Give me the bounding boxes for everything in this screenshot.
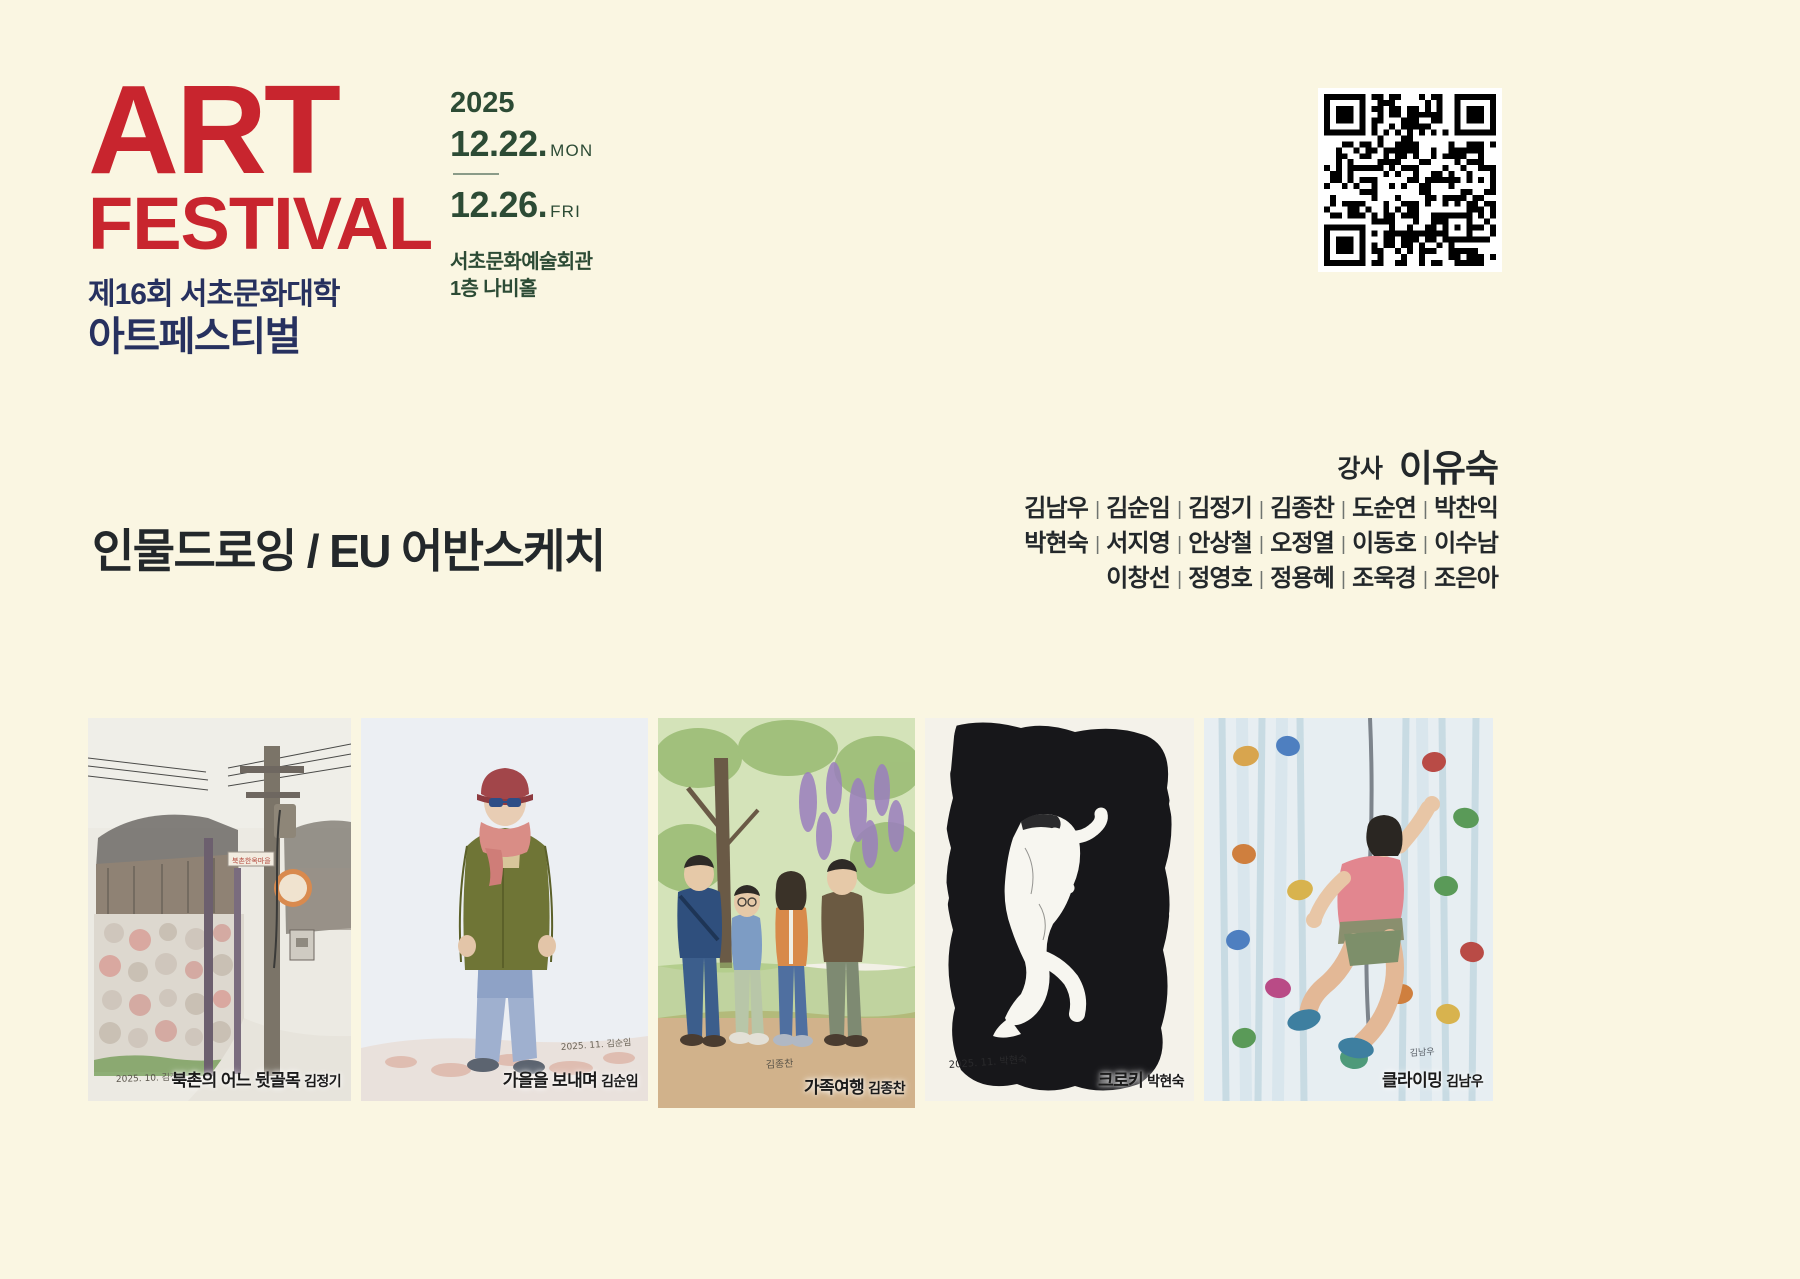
participant-name: 김정기 bbox=[1188, 495, 1252, 522]
artwork-image-figure-standing: 2025. 11. 김순임 bbox=[361, 718, 648, 1101]
participant-name: 이창선 bbox=[1106, 565, 1170, 592]
title-art: ART bbox=[88, 76, 508, 184]
participant-name: 김종찬 bbox=[1270, 495, 1334, 522]
participant-name: 정용혜 bbox=[1270, 565, 1334, 592]
venue-line-2: 1층 나비홀 bbox=[450, 276, 593, 303]
artwork-strip: 북촌한옥마을 2025. 10. 김정기 북촌의 어느 뒷골목김정기 bbox=[88, 718, 1493, 1108]
name-separator: | bbox=[1259, 534, 1263, 555]
name-separator: | bbox=[1177, 499, 1181, 520]
artwork-card[interactable]: 북촌한옥마을 2025. 10. 김정기 북촌의 어느 뒷골목김정기 bbox=[88, 718, 351, 1101]
artwork-title: 가족여행 bbox=[804, 1078, 864, 1097]
participant-name-row: 이창선|정영호|정용혜|조욱경|조은아 bbox=[838, 562, 1498, 597]
date-venue-block: 2025 12.22.MON 12.26.FRI 서초문화예술회관 1층 나비홀 bbox=[450, 86, 593, 303]
name-separator: | bbox=[1423, 569, 1427, 590]
name-separator: | bbox=[1259, 569, 1263, 590]
artwork-artist: 김순임 bbox=[601, 1073, 638, 1089]
venue-line-1: 서초문화예술회관 bbox=[450, 249, 593, 276]
participant-name: 김남우 bbox=[1024, 495, 1088, 522]
artwork-card[interactable]: 2025. 11. 박현숙 크로키박현숙 bbox=[925, 718, 1194, 1101]
artwork-artist: 김남우 bbox=[1446, 1073, 1483, 1089]
korean-subtitle-line2: 아트페스티벌 bbox=[88, 315, 508, 359]
poster-canvas: ART FESTIVAL 제16회 서초문화대학 아트페스티벌 2025 12.… bbox=[0, 0, 1800, 1279]
participant-name: 도순연 bbox=[1352, 495, 1416, 522]
korean-subtitle-line1: 제16회 서초문화대학 bbox=[88, 278, 508, 313]
participant-name: 조은아 bbox=[1434, 565, 1498, 592]
artwork-artist: 김정기 bbox=[304, 1073, 341, 1089]
artwork-caption: 북촌의 어느 뒷골목김정기 bbox=[172, 1066, 341, 1091]
name-separator: | bbox=[1259, 499, 1263, 520]
participant-name: 오정열 bbox=[1270, 530, 1334, 557]
artwork-image-hanok-alley: 북촌한옥마을 2025. 10. 김정기 bbox=[88, 718, 351, 1101]
artwork-artist: 박현숙 bbox=[1147, 1073, 1184, 1089]
svg-text:김종찬: 김종찬 bbox=[766, 1058, 794, 1071]
course-title: 인물드로잉 / EU 어반스케치 bbox=[92, 515, 605, 581]
participant-name: 정영호 bbox=[1188, 565, 1252, 592]
participant-name: 김순임 bbox=[1106, 495, 1170, 522]
svg-text:북촌한옥마을: 북촌한옥마을 bbox=[232, 856, 271, 865]
artwork-image-ink-croquis: 2025. 11. 박현숙 bbox=[925, 718, 1194, 1101]
instructor-row: 강사 이유숙 bbox=[1337, 438, 1498, 492]
instructor-label: 강사 bbox=[1337, 455, 1382, 483]
artwork-title: 가을을 보내며 bbox=[503, 1071, 597, 1090]
artwork-artist: 김종찬 bbox=[868, 1080, 905, 1096]
event-year: 2025 bbox=[450, 86, 593, 121]
name-separator: | bbox=[1177, 534, 1181, 555]
event-end-date: 12.26.FRI bbox=[450, 182, 593, 227]
artwork-caption: 크로키박현숙 bbox=[1098, 1066, 1184, 1091]
participant-name: 서지영 bbox=[1106, 530, 1170, 557]
name-separator: | bbox=[1341, 499, 1345, 520]
title-festival: FESTIVAL bbox=[88, 190, 508, 258]
end-day-of-week: FRI bbox=[550, 202, 581, 221]
name-separator: | bbox=[1095, 534, 1099, 555]
end-date-value: 12.26. bbox=[450, 184, 547, 225]
participant-name: 이동호 bbox=[1352, 530, 1416, 557]
participant-name: 박현숙 bbox=[1024, 530, 1088, 557]
name-separator: | bbox=[1341, 569, 1345, 590]
artwork-caption: 가을을 보내며김순임 bbox=[503, 1066, 638, 1091]
qr-code-bitmap bbox=[1324, 94, 1496, 266]
artwork-image-climbing: 김남우 bbox=[1204, 718, 1493, 1101]
artwork-caption: 가족여행김종찬 bbox=[804, 1073, 905, 1098]
venue-info: 서초문화예술회관 1층 나비홀 bbox=[450, 249, 593, 303]
participant-name: 조욱경 bbox=[1352, 565, 1416, 592]
artwork-image-family-group: 김종찬 bbox=[658, 718, 915, 1108]
festival-logo-block: ART FESTIVAL 제16회 서초문화대학 아트페스티벌 bbox=[88, 76, 508, 359]
artwork-card[interactable]: 2025. 11. 김순임 가을을 보내며김순임 bbox=[361, 718, 648, 1101]
artwork-caption: 클라이밍김남우 bbox=[1382, 1066, 1483, 1091]
artwork-card[interactable]: 김종찬 가족여행김종찬 bbox=[658, 718, 915, 1108]
start-date-value: 12.22. bbox=[450, 123, 547, 164]
instructor-name: 이유숙 bbox=[1399, 448, 1498, 489]
participant-name: 이수남 bbox=[1434, 530, 1498, 557]
qr-code-icon[interactable] bbox=[1318, 88, 1502, 272]
name-separator: | bbox=[1095, 499, 1099, 520]
artwork-card[interactable]: 김남우 클라이밍김남우 bbox=[1204, 718, 1493, 1101]
artwork-title: 북촌의 어느 뒷골목 bbox=[172, 1071, 301, 1090]
name-separator: | bbox=[1423, 499, 1427, 520]
name-separator: | bbox=[1341, 534, 1345, 555]
participant-name: 박찬익 bbox=[1434, 495, 1498, 522]
name-separator: | bbox=[1177, 569, 1181, 590]
participant-name: 안상철 bbox=[1188, 530, 1252, 557]
event-start-date: 12.22.MON bbox=[450, 121, 593, 166]
artwork-title: 클라이밍 bbox=[1382, 1071, 1442, 1090]
name-separator: | bbox=[1423, 534, 1427, 555]
artwork-title: 크로키 bbox=[1098, 1071, 1143, 1090]
start-day-of-week: MON bbox=[550, 141, 593, 160]
date-range-divider bbox=[453, 173, 499, 175]
participant-name-row: 김남우|김순임|김정기|김종찬|도순연|박찬익 bbox=[838, 492, 1498, 527]
participant-names: 김남우|김순임|김정기|김종찬|도순연|박찬익박현숙|서지영|안상철|오정열|이… bbox=[838, 492, 1498, 596]
participant-name-row: 박현숙|서지영|안상철|오정열|이동호|이수남 bbox=[838, 527, 1498, 562]
